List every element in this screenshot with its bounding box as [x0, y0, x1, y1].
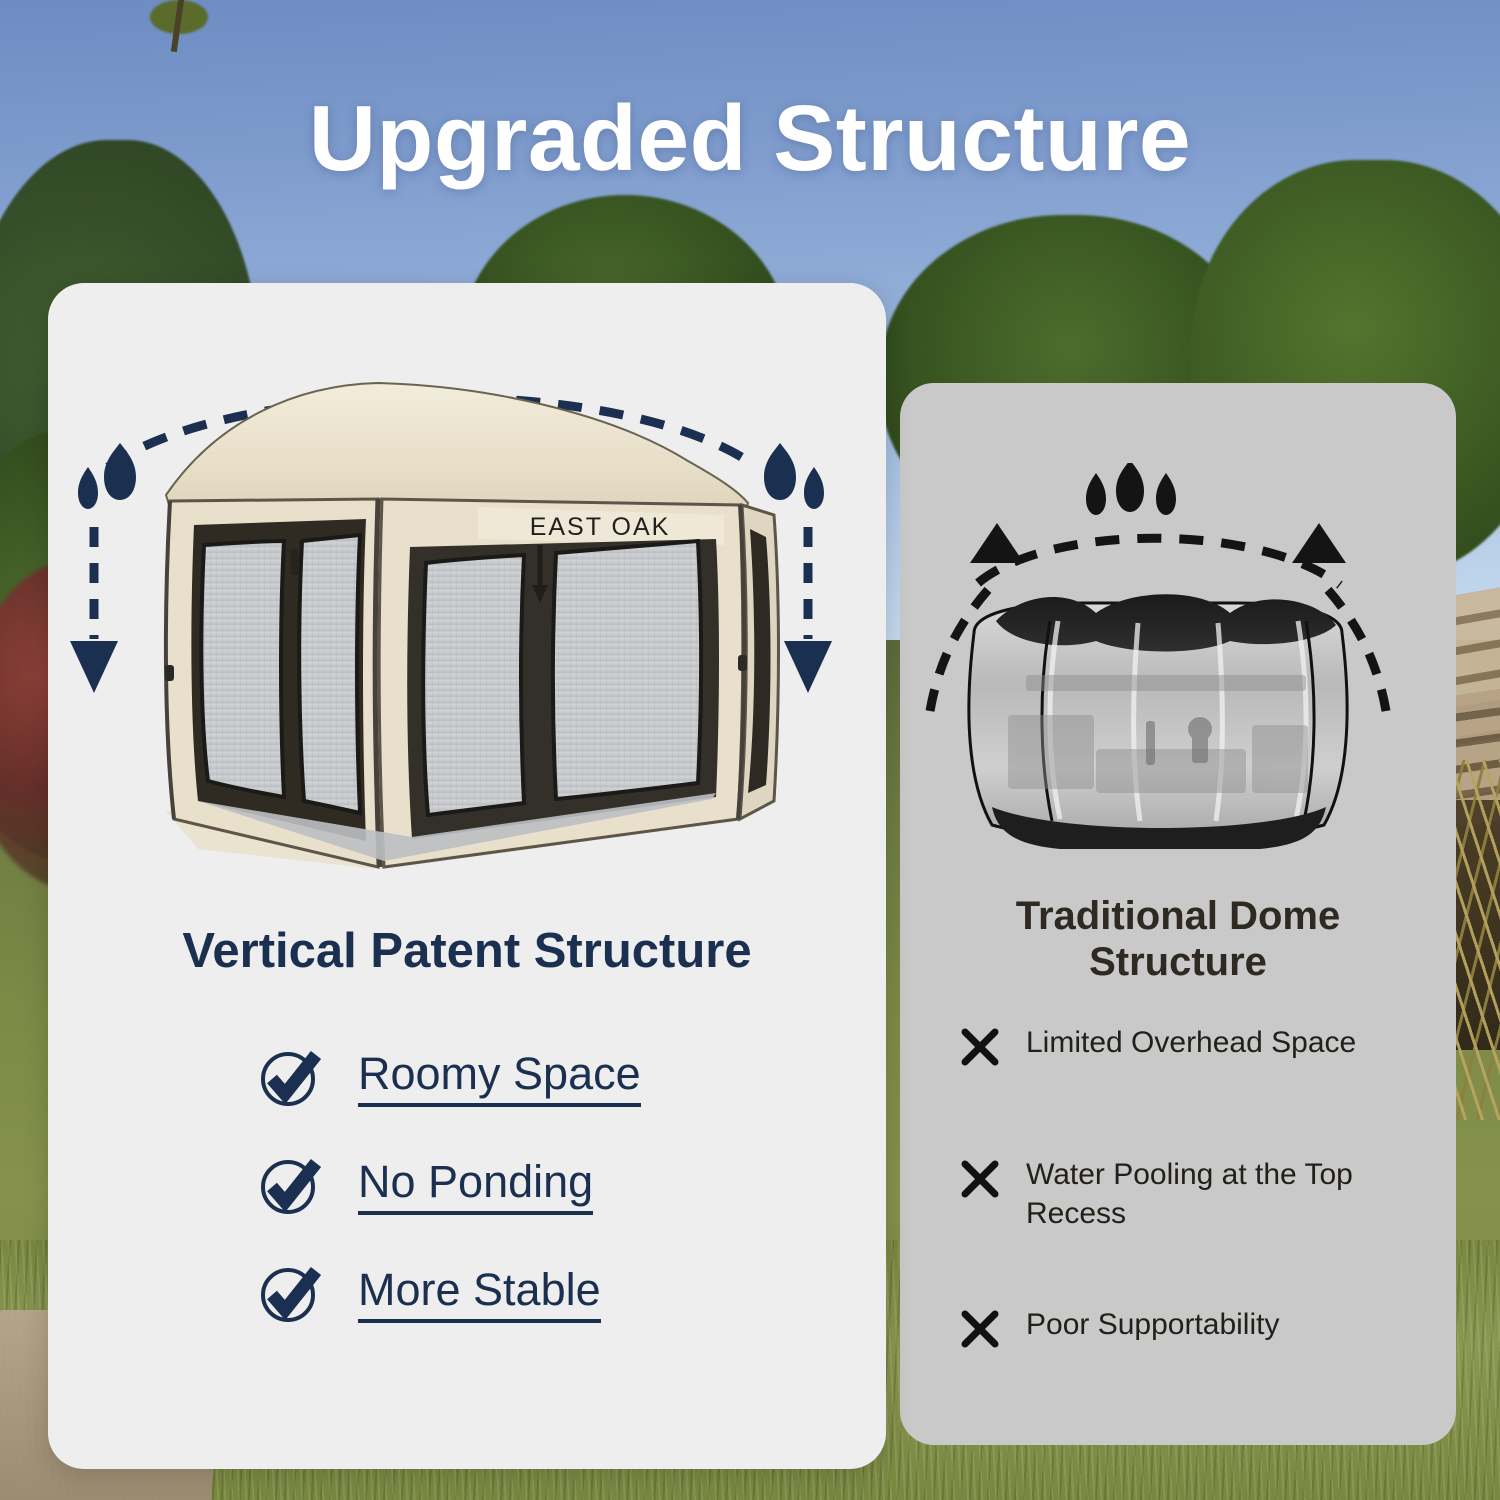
dashed-arc-icon — [978, 538, 1340, 585]
traditional-dome-card: Traditional Dome Structure Limited Overh… — [900, 383, 1456, 1445]
pro-item: No Ponding — [258, 1131, 858, 1239]
x-icon — [958, 1157, 1002, 1201]
right-card-heading: Traditional Dome Structure — [928, 893, 1428, 986]
x-icon — [958, 1307, 1002, 1351]
down-arrow-icon — [784, 527, 832, 693]
con-item: Water Pooling at the Top Recess — [958, 1155, 1428, 1233]
water-drop-icon — [1086, 463, 1176, 515]
cons-list: Limited Overhead Space Water Pooling at … — [958, 1023, 1428, 1437]
x-icon — [958, 1025, 1002, 1069]
con-item: Limited Overhead Space — [958, 1023, 1428, 1083]
infographic-canvas: Upgraded Structure — [0, 0, 1500, 1500]
check-circle-icon — [258, 1045, 322, 1109]
pro-item: More Stable — [258, 1239, 858, 1347]
screen-house-tent-icon: EAST OAK — [48, 349, 886, 889]
con-item-label: Water Pooling at the Top Recess — [1026, 1155, 1428, 1233]
dome-tent-icon — [900, 463, 1456, 893]
down-arrow-icon — [70, 527, 118, 693]
page-title: Upgraded Structure — [0, 90, 1500, 188]
water-drop-icon — [78, 443, 136, 509]
vertical-patent-card: EAST OAK — [48, 283, 886, 1469]
con-item: Poor Supportability — [958, 1305, 1428, 1365]
brand-label: EAST OAK — [530, 513, 671, 541]
pro-item-label: No Ponding — [358, 1155, 593, 1214]
con-item-label: Poor Supportability — [1026, 1305, 1279, 1344]
left-card-heading: Vertical Patent Structure — [48, 923, 886, 979]
tent-illustration: EAST OAK — [48, 349, 886, 889]
check-circle-icon — [258, 1261, 322, 1325]
con-item-label: Limited Overhead Space — [1026, 1023, 1356, 1062]
right-heading-line-1: Traditional Dome — [1016, 894, 1341, 938]
water-drop-icon — [764, 443, 824, 509]
right-heading-line-2: Structure — [1089, 940, 1267, 984]
check-circle-icon — [258, 1153, 322, 1217]
dome-illustration — [900, 463, 1456, 893]
pro-item-label: More Stable — [358, 1263, 601, 1322]
pro-item-label: Roomy Space — [358, 1047, 641, 1106]
pros-list: Roomy Space No Ponding — [258, 1023, 858, 1347]
pro-item: Roomy Space — [258, 1023, 858, 1131]
